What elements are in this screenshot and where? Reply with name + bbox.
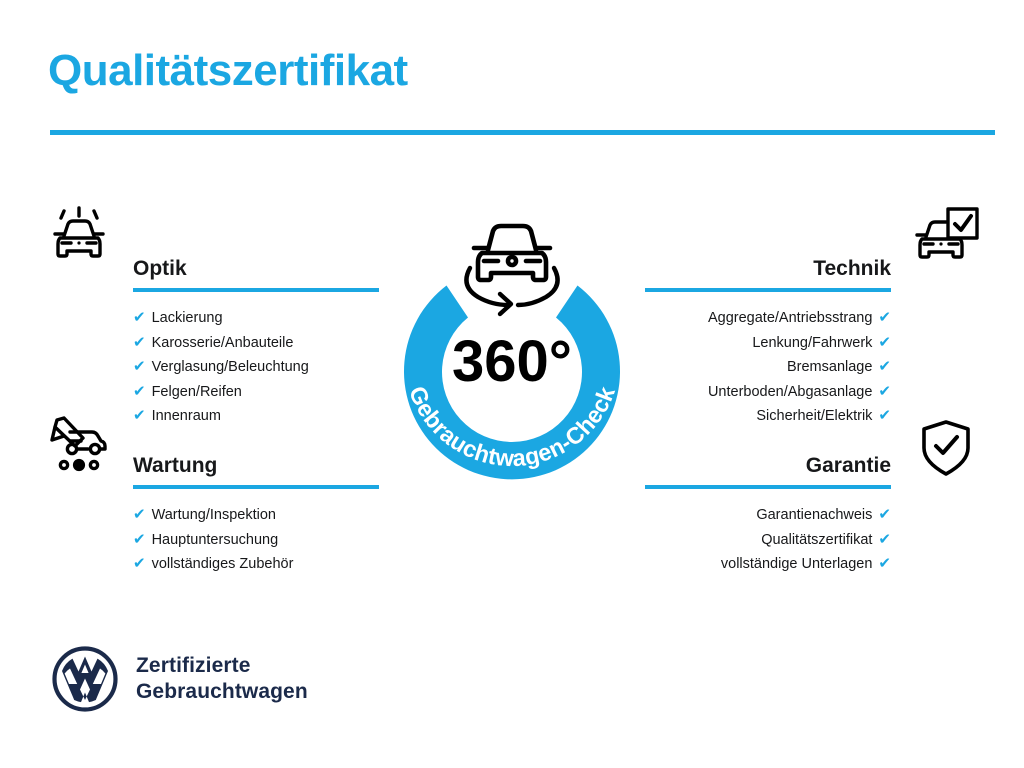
360-check-badge: Gebrauchtwagen-Check 360° [374, 198, 650, 490]
check-icon: ✔ [133, 306, 146, 330]
section-divider [645, 485, 891, 489]
pencil-car-service-icon [48, 416, 110, 477]
car-rotation-icon [466, 226, 557, 314]
car-checkbox-icon [912, 206, 980, 273]
checklist-wartung: ✔ Wartung/Inspektion ✔ Hauptuntersuchung… [133, 503, 379, 577]
badge-center-label: 360° [452, 329, 572, 394]
check-icon: ✔ [133, 380, 146, 404]
check-icon: ✔ [878, 331, 891, 355]
car-shine-icon [48, 206, 110, 273]
check-icon: ✔ [878, 380, 891, 404]
list-item: Unterboden/Abgasanlage ✔ [645, 380, 891, 405]
check-icon: ✔ [133, 528, 146, 552]
list-item-label: Qualitätszertifikat [761, 529, 872, 553]
list-item-label: Lenkung/Fahrwerk [752, 332, 872, 356]
check-icon: ✔ [133, 552, 146, 576]
list-item: ✔ Felgen/Reifen [133, 380, 379, 405]
vw-certified-footer: Zertifizierte Gebrauchtwagen [52, 646, 308, 712]
list-item: Sicherheit/Elektrik ✔ [645, 404, 891, 429]
list-item-label: Unterboden/Abgasanlage [708, 381, 872, 405]
check-icon: ✔ [878, 404, 891, 428]
check-icon: ✔ [878, 355, 891, 379]
list-item: vollständige Unterlagen ✔ [645, 552, 891, 577]
list-item-label: vollständiges Zubehör [152, 553, 294, 577]
list-item-label: Sicherheit/Elektrik [756, 405, 872, 429]
list-item-label: Hauptuntersuchung [152, 529, 279, 553]
list-item-label: Bremsanlage [787, 356, 872, 380]
list-item: Qualitätszertifikat ✔ [645, 528, 891, 553]
check-icon: ✔ [133, 404, 146, 428]
checklist-garantie: Garantienachweis ✔ Qualitätszertifikat ✔… [645, 503, 891, 577]
list-item-label: Felgen/Reifen [152, 381, 242, 405]
vw-footer-text: Zertifizierte Gebrauchtwagen [136, 653, 308, 705]
shield-check-icon [918, 418, 974, 483]
list-item: ✔ Verglasung/Beleuchtung [133, 355, 379, 380]
list-item-label: Aggregate/Antriebsstrang [708, 307, 872, 331]
list-item: ✔ vollständiges Zubehör [133, 552, 379, 577]
vw-footer-line1: Zertifizierte [136, 653, 308, 679]
list-item: ✔ Lackierung [133, 306, 379, 331]
vw-footer-line2: Gebrauchtwagen [136, 679, 308, 705]
list-item-label: Lackierung [152, 307, 223, 331]
section-divider [133, 288, 379, 292]
list-item-label: Innenraum [152, 405, 221, 429]
list-item: ✔ Wartung/Inspektion [133, 503, 379, 528]
check-icon: ✔ [878, 552, 891, 576]
section-title: Optik [133, 258, 187, 281]
list-item: Lenkung/Fahrwerk ✔ [645, 331, 891, 356]
section-title: Wartung [133, 455, 217, 478]
section-title: Technik [813, 258, 891, 281]
check-icon: ✔ [878, 306, 891, 330]
check-icon: ✔ [133, 503, 146, 527]
check-icon: ✔ [878, 503, 891, 527]
checklist-optik: ✔ Lackierung ✔ Karosserie/Anbauteile ✔ V… [133, 306, 379, 429]
section-garantie: Garantie Garantienachweis ✔ Qualitätszer… [645, 430, 891, 593]
list-item-label: vollständige Unterlagen [721, 553, 873, 577]
page-title: Qualitätszertifikat [48, 48, 408, 94]
section-divider [133, 485, 379, 489]
list-item: ✔ Innenraum [133, 404, 379, 429]
list-item: Aggregate/Antriebsstrang ✔ [645, 306, 891, 331]
check-icon: ✔ [133, 355, 146, 379]
list-item: Bremsanlage ✔ [645, 355, 891, 380]
list-item-label: Garantienachweis [756, 504, 872, 528]
section-wartung: Wartung ✔ Wartung/Inspektion ✔ Hauptunte… [133, 430, 379, 593]
section-technik: Technik Aggregate/Antriebsstrang ✔ Lenku… [645, 233, 891, 445]
certificate-page: Qualitätszertifikat Optik [0, 0, 1024, 768]
list-item-label: Verglasung/Beleuchtung [152, 356, 309, 380]
check-icon: ✔ [878, 528, 891, 552]
vw-logo [52, 646, 118, 712]
check-icon: ✔ [133, 331, 146, 355]
list-item-label: Karosserie/Anbauteile [152, 332, 294, 356]
list-item: Garantienachweis ✔ [645, 503, 891, 528]
list-item: ✔ Hauptuntersuchung [133, 528, 379, 553]
checklist-technik: Aggregate/Antriebsstrang ✔ Lenkung/Fahrw… [645, 306, 891, 429]
list-item-label: Wartung/Inspektion [152, 504, 276, 528]
section-divider [645, 288, 891, 292]
list-item: ✔ Karosserie/Anbauteile [133, 331, 379, 356]
title-divider [50, 130, 995, 135]
section-optik: Optik ✔ Lackierung ✔ Karosserie/Anbautei… [133, 233, 379, 445]
section-title: Garantie [806, 455, 891, 478]
